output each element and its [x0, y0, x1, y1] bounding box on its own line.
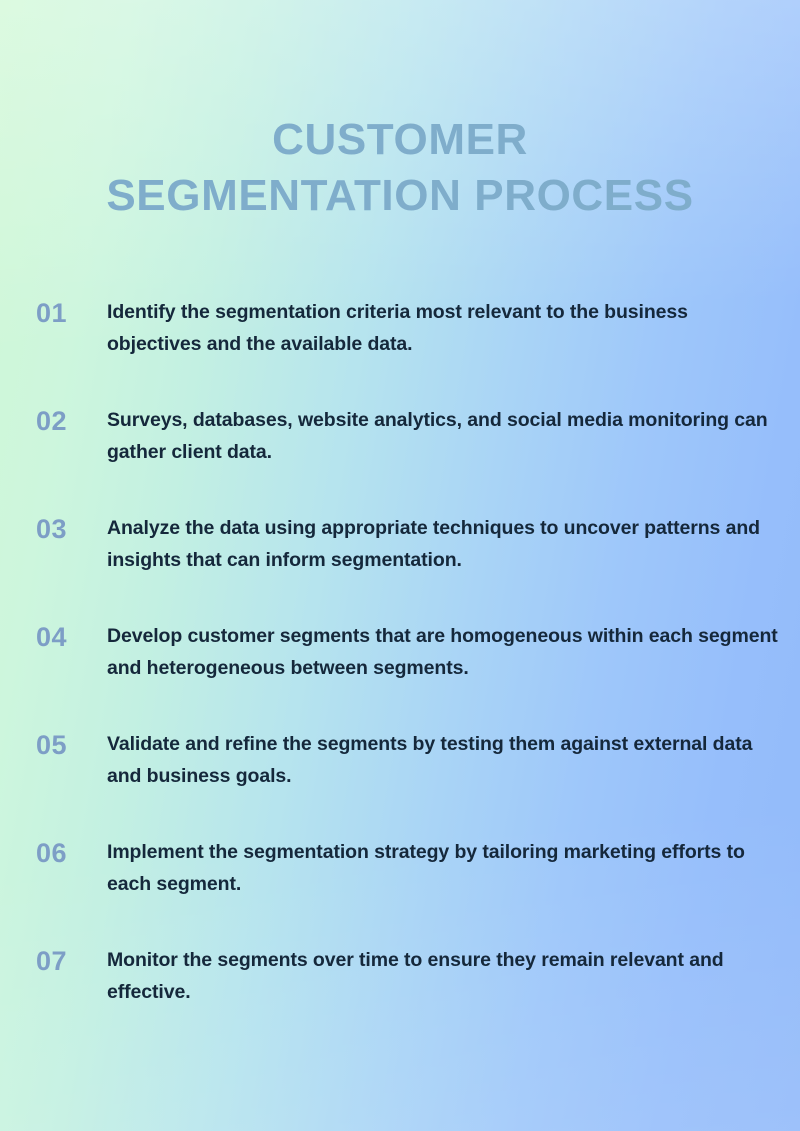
step-number-07: 07	[36, 945, 107, 977]
page-title-line-2: SEGMENTATION PROCESS	[0, 168, 800, 224]
step-number-01: 01	[36, 297, 107, 329]
step-number-04: 04	[36, 621, 107, 653]
step-text-01: Identify the segmentation criteria most …	[107, 297, 779, 360]
step-text-06: Implement the segmentation strategy by t…	[107, 837, 779, 900]
step-number-05: 05	[36, 729, 107, 761]
list-item: 05 Validate and refine the segments by t…	[0, 729, 800, 793]
page-title-line-1: CUSTOMER	[0, 112, 800, 168]
step-number-06: 06	[36, 837, 107, 869]
infographic-poster: CUSTOMER SEGMENTATION PROCESS 01 Identif…	[0, 0, 800, 1131]
list-item: 01 Identify the segmentation criteria mo…	[0, 297, 800, 361]
list-item: 03 Analyze the data using appropriate te…	[0, 513, 800, 577]
step-text-03: Analyze the data using appropriate techn…	[107, 513, 779, 576]
step-text-05: Validate and refine the segments by test…	[107, 729, 779, 792]
list-item: 07 Monitor the segments over time to ens…	[0, 945, 800, 1009]
page-title: CUSTOMER SEGMENTATION PROCESS	[0, 112, 800, 224]
step-number-03: 03	[36, 513, 107, 545]
list-item: 02 Surveys, databases, website analytics…	[0, 405, 800, 469]
step-text-07: Monitor the segments over time to ensure…	[107, 945, 779, 1008]
process-step-list: 01 Identify the segmentation criteria mo…	[0, 297, 800, 1009]
list-item: 04 Develop customer segments that are ho…	[0, 621, 800, 685]
list-item: 06 Implement the segmentation strategy b…	[0, 837, 800, 901]
step-text-04: Develop customer segments that are homog…	[107, 621, 779, 684]
step-text-02: Surveys, databases, website analytics, a…	[107, 405, 779, 468]
step-number-02: 02	[36, 405, 107, 437]
